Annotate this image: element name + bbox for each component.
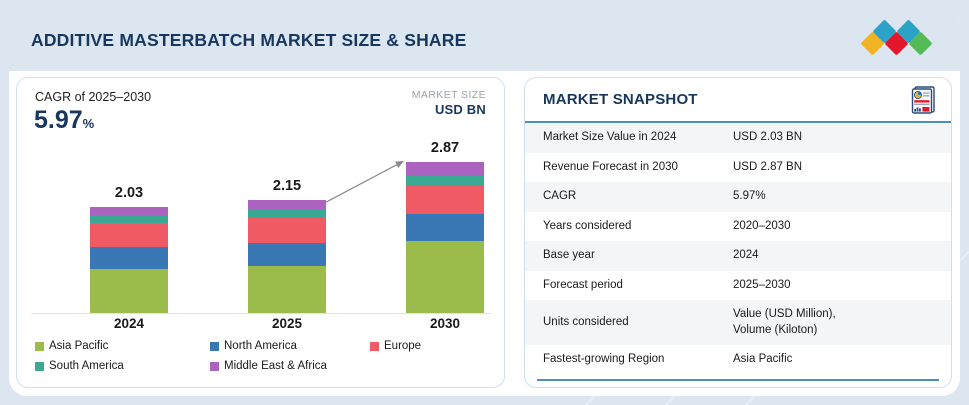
x-axis-label-2030: 2030 [400, 316, 490, 331]
company-logo [864, 22, 936, 58]
snapshot-row-value: 2020–2030 [733, 212, 951, 242]
legend-label-north-america: North America [224, 340, 297, 352]
legend-label-europe: Europe [384, 340, 421, 352]
snapshot-row: Revenue Forecast in 2030USD 2.87 BN [525, 153, 951, 183]
legend-swatch-middle-east-africa [210, 362, 219, 371]
page-title: ADDITIVE MASTERBATCH MARKET SIZE & SHARE [31, 30, 466, 51]
segment-europe [248, 218, 326, 243]
segment-asia-pacific [248, 266, 326, 313]
market-snapshot-panel: MARKET SNAPSHOT Market Size Value in 202… [524, 77, 952, 388]
snapshot-footer-rule [537, 379, 939, 381]
snapshot-title: MARKET SNAPSHOT [543, 91, 698, 108]
segment-asia-pacific [406, 241, 484, 313]
snapshot-row-label: Years considered [525, 212, 733, 242]
legend-item-asia-pacific: Asia Pacific [35, 340, 210, 352]
x-axis-label-2025: 2025 [242, 316, 332, 331]
bar-2030 [406, 162, 484, 313]
legend-item-south-america: South America [35, 360, 210, 372]
segment-middle-east-africa [90, 207, 168, 215]
snapshot-row-value: Value (USD Million),Volume (Kiloton) [733, 300, 951, 345]
chart-panel: CAGR of 2025–2030 5.97% MARKET SIZE USD … [16, 77, 505, 388]
legend-swatch-asia-pacific [35, 342, 44, 351]
snapshot-row: Market Size Value in 2024USD 2.03 BN [525, 123, 951, 153]
snapshot-header: MARKET SNAPSHOT [525, 78, 951, 123]
segment-middle-east-africa [248, 200, 326, 209]
legend-item-north-america: North America [210, 340, 370, 352]
snapshot-row: Forecast period2025–2030 [525, 271, 951, 301]
segment-asia-pacific [90, 269, 168, 313]
segment-south-america [90, 215, 168, 223]
legend-label-asia-pacific: Asia Pacific [49, 340, 108, 352]
snapshot-table: Market Size Value in 2024USD 2.03 BNReve… [525, 123, 951, 375]
legend-item-middle-east-africa: Middle East & Africa [210, 360, 327, 372]
bar-total-2030: 2.87 [400, 140, 490, 156]
legend-row-2: South America Middle East & Africa [35, 360, 490, 372]
segment-south-america [406, 176, 484, 186]
legend-item-europe: Europe [370, 340, 421, 352]
snapshot-row-label: Revenue Forecast in 2030 [525, 153, 733, 183]
snapshot-row-label: Market Size Value in 2024 [525, 123, 733, 153]
legend-swatch-europe [370, 342, 379, 351]
snapshot-row-value: Asia Pacific [733, 345, 951, 375]
snapshot-row: Units consideredValue (USD Million),Volu… [525, 300, 951, 345]
snapshot-row-label: Units considered [525, 300, 733, 345]
legend-label-south-america: South America [49, 360, 124, 372]
bar-2025 [248, 200, 326, 313]
segment-north-america [406, 214, 484, 240]
segment-middle-east-africa [406, 162, 484, 175]
segment-europe [90, 223, 168, 247]
report-icon [911, 86, 937, 114]
snapshot-row: Fastest-growing RegionAsia Pacific [525, 345, 951, 375]
header-bar: ADDITIVE MASTERBATCH MARKET SIZE & SHARE [9, 9, 960, 71]
legend-label-middle-east-africa: Middle East & Africa [224, 360, 327, 372]
snapshot-row-label: Fastest-growing Region [525, 345, 733, 375]
legend-row-1: Asia Pacific North America Europe [35, 340, 490, 352]
segment-europe [406, 186, 484, 215]
snapshot-row-value: USD 2.87 BN [733, 153, 951, 183]
segment-north-america [248, 243, 326, 266]
segment-north-america [90, 247, 168, 269]
chart-legend: Asia Pacific North America Europe South … [35, 340, 490, 380]
segment-south-america [248, 209, 326, 218]
x-axis-label-2024: 2024 [84, 316, 174, 331]
legend-swatch-north-america [210, 342, 219, 351]
snapshot-row: CAGR5.97% [525, 182, 951, 212]
snapshot-row-value: 2024 [733, 241, 951, 271]
snapshot-row-label: CAGR [525, 182, 733, 212]
bar-2024 [90, 207, 168, 313]
bar-total-2024: 2.03 [84, 185, 174, 201]
snapshot-row-value: USD 2.03 BN [733, 123, 951, 153]
snapshot-row-value: 5.97% [733, 182, 951, 212]
bar-total-2025: 2.15 [242, 178, 332, 194]
x-axis-line [31, 313, 491, 314]
snapshot-row-value: 2025–2030 [733, 271, 951, 301]
snapshot-row: Years considered2020–2030 [525, 212, 951, 242]
snapshot-row: Base year2024 [525, 241, 951, 271]
snapshot-row-label: Forecast period [525, 271, 733, 301]
legend-swatch-south-america [35, 362, 44, 371]
snapshot-row-label: Base year [525, 241, 733, 271]
